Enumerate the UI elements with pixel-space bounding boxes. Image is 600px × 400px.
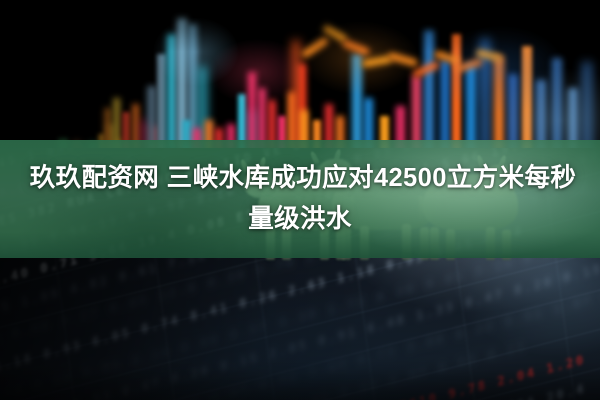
chart-bar <box>292 40 300 150</box>
chart-bar <box>300 110 308 150</box>
chart-trend-segment <box>301 36 330 59</box>
chart-trend-segment <box>388 52 419 67</box>
chart-bar <box>157 54 166 150</box>
chart-bar <box>352 54 362 150</box>
chart-bar <box>508 74 518 150</box>
chart-bar <box>147 86 156 150</box>
chart-bar <box>258 88 266 150</box>
chart-bar <box>336 116 344 150</box>
chart-bar <box>452 34 461 150</box>
chart-bar <box>494 56 504 150</box>
chart-bar <box>268 100 276 150</box>
stock-ticker-board-background: 0.82 1.50 0380 03610 9.78 2.04 1.20 0.82… <box>0 148 600 400</box>
chart-bar <box>205 120 213 150</box>
chart-bar <box>122 112 130 150</box>
chart-bar <box>440 60 450 150</box>
chart-bar <box>380 116 389 150</box>
stock-bar-chart-background <box>0 0 600 150</box>
chart-bar <box>227 124 235 150</box>
chart-bar <box>522 46 532 150</box>
chart-bar <box>396 106 405 150</box>
chart-bar <box>325 104 333 150</box>
chart-bar <box>568 88 578 150</box>
chart-bar <box>412 76 421 150</box>
chart-bar <box>238 94 246 150</box>
chart-bar <box>132 104 139 150</box>
chart-bar <box>466 64 476 150</box>
chart-bar <box>424 30 434 150</box>
chart-bar <box>167 34 176 150</box>
chart-bar <box>182 120 191 150</box>
chart-bar <box>552 58 562 150</box>
chart-bar <box>104 108 111 150</box>
chart-bar <box>215 128 223 150</box>
chart-bar <box>582 62 592 150</box>
chart-bar <box>278 116 286 150</box>
chart-bar <box>248 72 256 150</box>
ticker-board-plane: 0.82 1.50 0380 03610 9.78 2.04 1.20 0.82… <box>0 148 600 400</box>
chart-bar <box>113 98 120 150</box>
chart-bar <box>364 98 373 150</box>
chart-bar <box>313 120 321 150</box>
news-banner-image: 0.82 1.50 0380 03610 9.78 2.04 1.20 0.82… <box>0 0 600 400</box>
chart-bar <box>536 80 546 150</box>
chart-bar <box>193 128 201 150</box>
